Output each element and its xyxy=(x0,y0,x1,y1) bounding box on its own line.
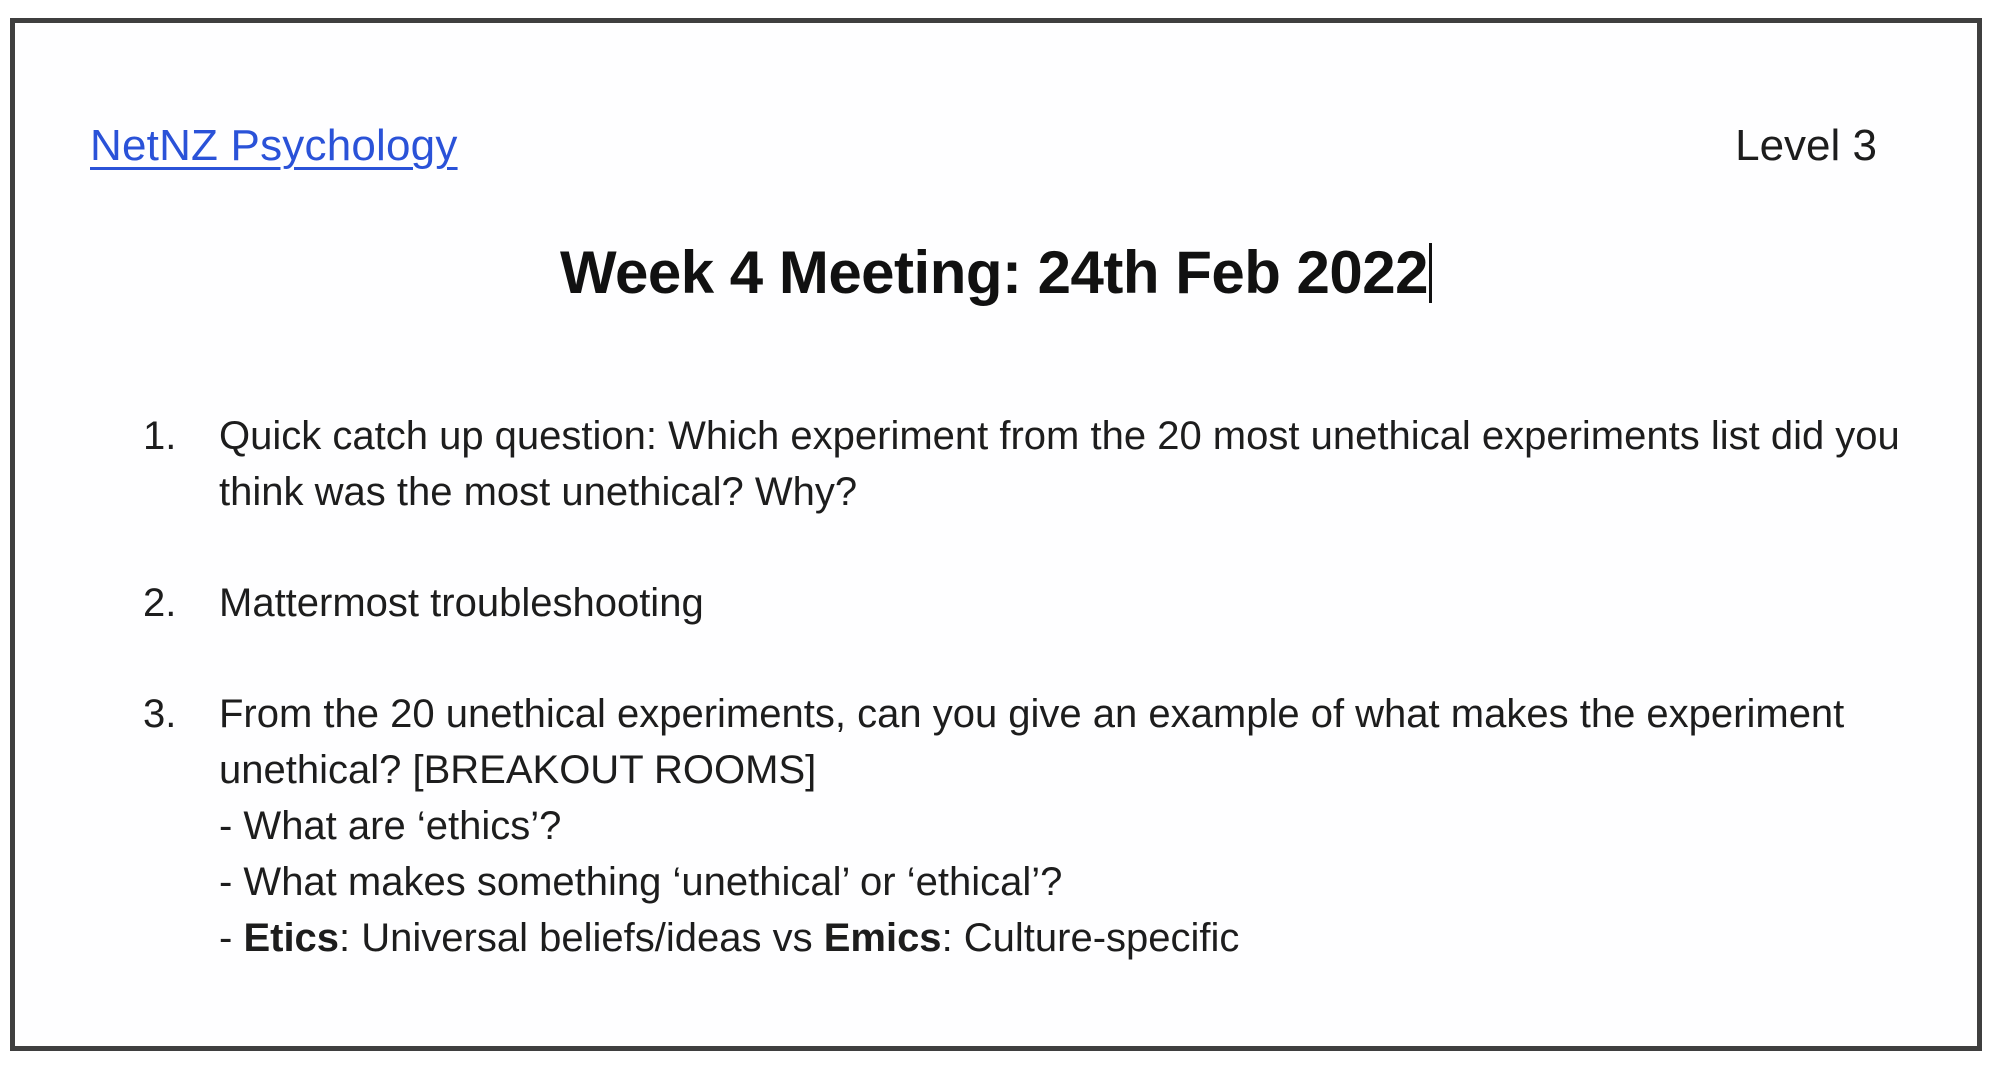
list-item-marker: 3. xyxy=(143,686,219,742)
agenda-list: 1. Quick catch up question: Which experi… xyxy=(143,408,1907,966)
text-cursor-caret xyxy=(1429,243,1432,303)
sub-item-suffix: : Culture-specific xyxy=(942,916,1240,960)
netnz-psychology-link[interactable]: NetNZ Psychology xyxy=(90,121,458,171)
term-emics: Emics xyxy=(824,916,942,960)
list-item-text: Quick catch up question: Which experimen… xyxy=(219,408,1907,520)
sub-item-prefix: - xyxy=(219,916,243,960)
slide-content: NetNZ Psychology Level 3 Week 4 Meeting:… xyxy=(15,23,1977,1046)
list-item-body: Quick catch up question: Which experimen… xyxy=(219,408,1907,520)
list-item-body: Mattermost troubleshooting xyxy=(219,575,1907,631)
list-item-body: From the 20 unethical experiments, can y… xyxy=(219,686,1907,966)
sub-list-item: - What are ‘ethics’? xyxy=(219,798,1907,854)
sub-item-mid: : Universal beliefs/ideas vs xyxy=(339,916,824,960)
sub-list-item: - What makes something ‘unethical’ or ‘e… xyxy=(219,854,1907,910)
page-title: Week 4 Meeting: 24th Feb 2022 xyxy=(15,238,1977,307)
term-etics: Etics xyxy=(243,916,339,960)
list-item: 2. Mattermost troubleshooting xyxy=(143,575,1907,631)
page-title-text: Week 4 Meeting: 24th Feb 2022 xyxy=(560,239,1428,306)
list-item-marker: 1. xyxy=(143,408,219,464)
level-label: Level 3 xyxy=(1735,121,1877,171)
list-item-text: From the 20 unethical experiments, can y… xyxy=(219,686,1907,798)
sub-list-item-etics-emics: - Etics: Universal beliefs/ideas vs Emic… xyxy=(219,910,1907,966)
slide-frame: NetNZ Psychology Level 3 Week 4 Meeting:… xyxy=(10,18,1982,1051)
list-item-marker: 2. xyxy=(143,575,219,631)
list-item-text: Mattermost troubleshooting xyxy=(219,575,1907,631)
list-item: 1. Quick catch up question: Which experi… xyxy=(143,408,1907,520)
list-item: 3. From the 20 unethical experiments, ca… xyxy=(143,686,1907,966)
